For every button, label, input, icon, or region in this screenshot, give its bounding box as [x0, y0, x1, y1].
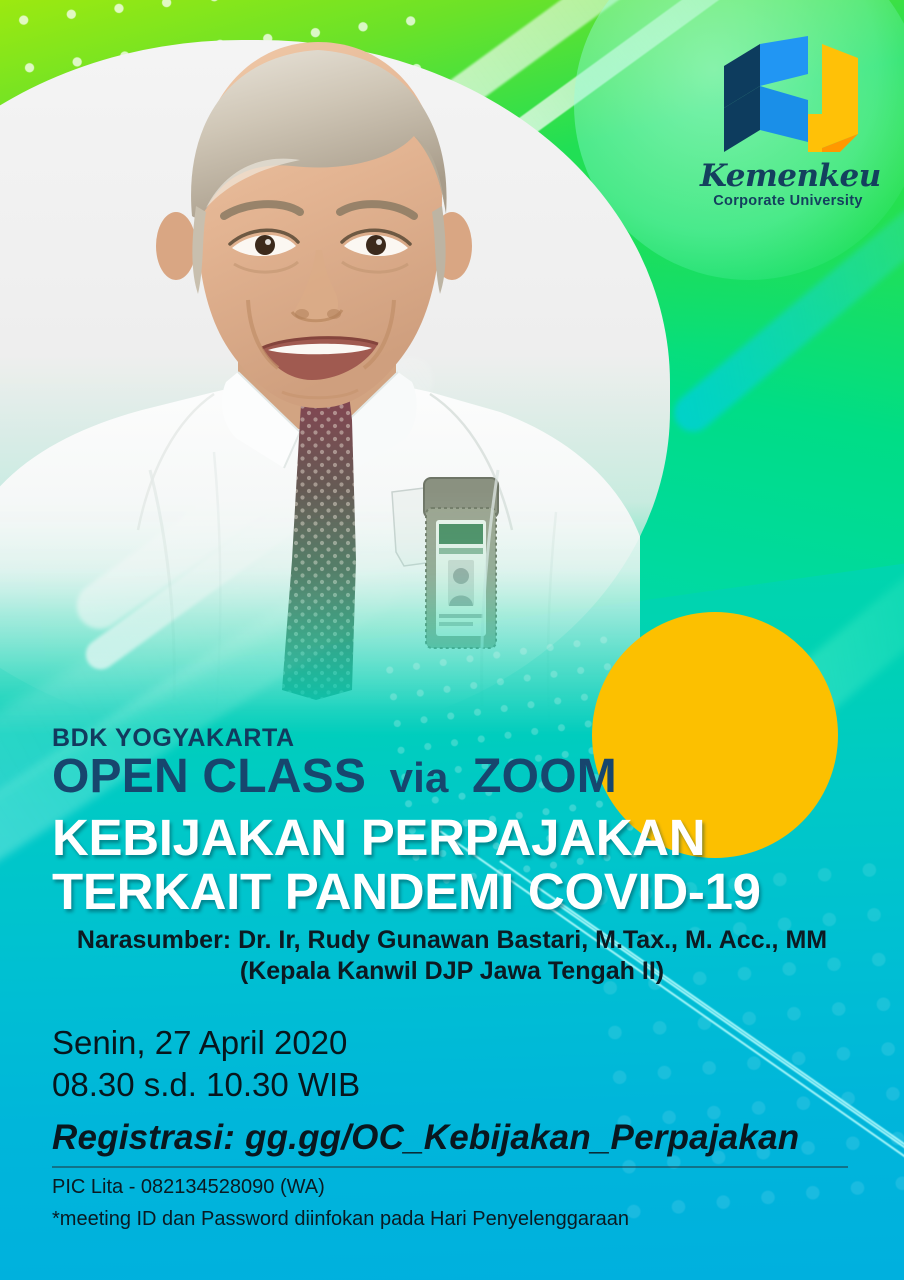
title-line-1: KEBIJAKAN PERPAJAKAN — [52, 812, 705, 863]
event-time: 08.30 s.d. 10.30 WIB — [52, 1064, 360, 1106]
contact-person: PIC Lita - 082134528090 (WA) — [52, 1176, 325, 1199]
event-schedule: Senin, 27 April 2020 08.30 s.d. 10.30 WI… — [52, 1022, 360, 1106]
logo-wordmark: Kemenkeu — [700, 158, 876, 194]
logo-mark-icon — [700, 30, 876, 156]
event-type-via: via — [390, 754, 449, 801]
event-type-platform: ZOOM — [472, 750, 617, 803]
speaker-info: Narasumber: Dr. Ir, Rudy Gunawan Bastari… — [52, 925, 852, 986]
event-type-heading: OPEN CLASS via ZOOM — [52, 752, 617, 802]
speaker-name: Narasumber: Dr. Ir, Rudy Gunawan Bastari… — [77, 926, 827, 954]
event-type-main: OPEN CLASS — [52, 750, 366, 803]
poster-canvas: Kemenkeu Corporate University BDK YOGYAK… — [0, 0, 904, 1280]
title-line-2: TERKAIT PANDEMI COVID-19 — [52, 866, 761, 917]
registration-link[interactable]: Registrasi: gg.gg/OC_Kebijakan_Perpajaka… — [52, 1118, 799, 1158]
logo-subtitle: Corporate University — [700, 193, 876, 209]
organizer-label: BDK YOGYAKARTA — [52, 724, 295, 753]
event-date: Senin, 27 April 2020 — [52, 1024, 347, 1061]
speaker-portrait — [0, 0, 640, 790]
speaker-position: (Kepala Kanwil DJP Jawa Tengah II) — [52, 956, 852, 987]
footnote: *meeting ID dan Password diinfokan pada … — [52, 1208, 629, 1231]
kemenkeu-logo: Kemenkeu Corporate University — [700, 30, 876, 220]
divider — [52, 1166, 848, 1168]
